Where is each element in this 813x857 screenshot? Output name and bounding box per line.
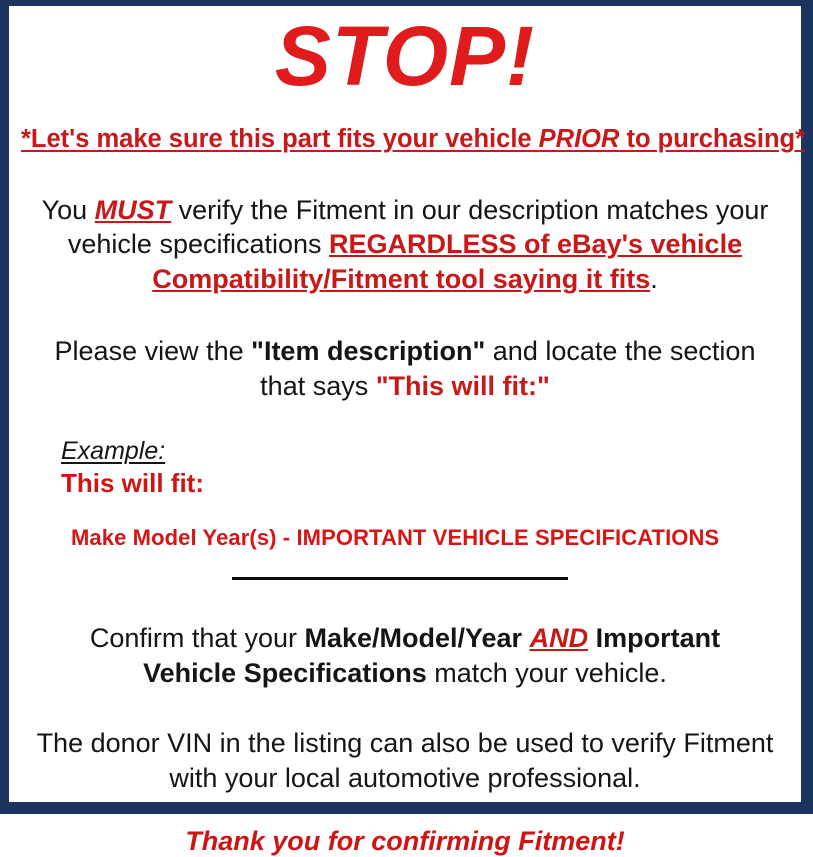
- paragraph-view-description: Please view the "Item description" and l…: [21, 334, 789, 403]
- example-label-row: Example:: [61, 437, 789, 466]
- subheading-text-before: *Let's make sure this part fits your veh…: [21, 125, 539, 153]
- confirm-text-3: [588, 623, 596, 653]
- example-block: Example: This will fit: Make Model Year(…: [21, 437, 789, 551]
- notice-content: STOP! *Let's make sure this part fits yo…: [9, 6, 801, 802]
- divider-container: [21, 577, 789, 591]
- subheading-prior-emphasis: PRIOR: [539, 125, 620, 153]
- paragraph-must-verify: You MUST verify the Fitment in our descr…: [21, 193, 789, 297]
- subheading-line: *Let's make sure this part fits your veh…: [21, 124, 789, 155]
- make-model-year-emphasis: Make/Model/Year: [304, 623, 522, 653]
- paragraph-confirm: Confirm that your Make/Model/Year AND Im…: [21, 621, 789, 690]
- example-spec-line: Make Model Year(s) - IMPORTANT VEHICLE S…: [71, 525, 789, 551]
- must-text-3: .: [650, 264, 658, 294]
- fitment-notice-card: STOP! *Let's make sure this part fits yo…: [0, 0, 813, 814]
- example-label: Example:: [61, 437, 165, 466]
- subheading-text-after: to purchasing*: [619, 125, 805, 153]
- and-emphasis: AND: [530, 623, 589, 653]
- view-text-1: Please view the: [55, 336, 252, 366]
- must-text-1: You: [42, 195, 95, 225]
- confirm-text-1: Confirm that your: [90, 623, 305, 653]
- confirm-text-2: [522, 623, 530, 653]
- confirm-text-4: match your vehicle.: [427, 658, 667, 688]
- example-fit-heading: This will fit:: [61, 468, 789, 499]
- stop-headline: STOP!: [21, 6, 789, 98]
- this-will-fit-quote: "This will fit:": [376, 371, 550, 401]
- must-emphasis: MUST: [95, 195, 172, 225]
- item-description-emphasis: "Item description": [251, 336, 485, 366]
- paragraph-donor-vin: The donor VIN in the listing can also be…: [21, 726, 789, 795]
- closing-thank-you: Thank you for confirming Fitment!: [21, 826, 789, 857]
- vin-text: The donor VIN in the listing can also be…: [37, 728, 774, 793]
- horizontal-divider: [232, 577, 568, 580]
